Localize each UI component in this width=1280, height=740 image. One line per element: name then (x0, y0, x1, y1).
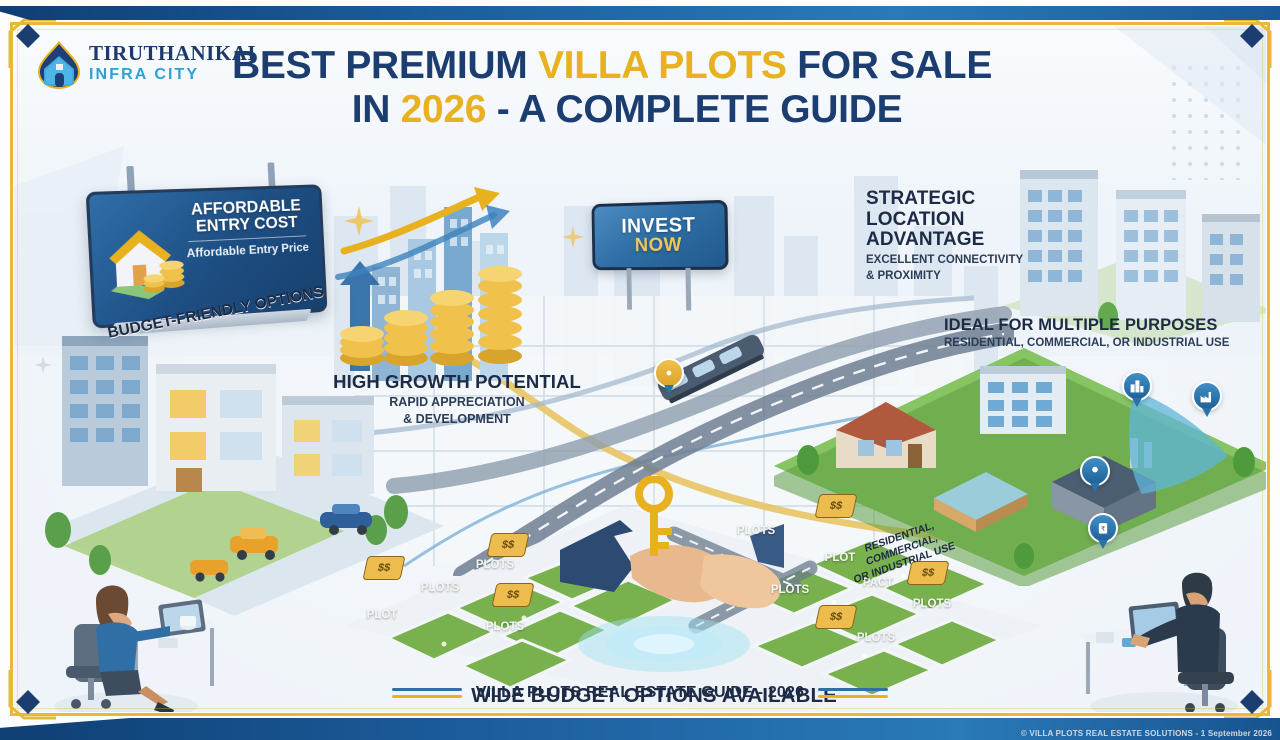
plot-label: PLOTS (465, 557, 525, 573)
footer-rule-right (818, 688, 888, 698)
plot-label: PLOT (352, 607, 412, 623)
feature-sub-line-1: EXCELLENT CONNECTIVITY (866, 254, 1046, 268)
title-part-6: - A COMPLETE GUIDE (486, 88, 902, 131)
price-tag-label: $$ (486, 533, 529, 557)
svg-text:₹: ₹ (1101, 526, 1105, 533)
price-tag-icon: $$ (489, 533, 527, 557)
plot-label: PLOTS (902, 596, 962, 612)
price-tag-label: $$ (814, 494, 857, 518)
invest-now-sign: INVEST NOW (591, 200, 728, 270)
feature-sub: RESIDENTIAL, COMMERCIAL, OR INDUSTRIAL U… (944, 337, 1264, 349)
feature-heading: HIGH GROWTH POTENTIAL (327, 371, 587, 393)
title-part-1: BEST PREMIUM (232, 44, 538, 87)
brand-text: TIRUTHANIKAI INFRA CITY (89, 43, 256, 86)
sparkle-icon (562, 226, 584, 248)
top-accent-bar (0, 6, 1280, 20)
copyright-text: © VILLA PLOTS REAL ESTATE SOLUTIONS - 1 … (1021, 729, 1272, 738)
title-highlight-villa-plots: VILLA PLOTS (538, 44, 787, 87)
billboard-leg (267, 162, 275, 188)
brand-name: TIRUTHANIKAI (89, 43, 256, 64)
sparkle-icon (344, 206, 374, 236)
price-tag-label: $$ (362, 556, 405, 580)
map-pin-icon (654, 358, 684, 388)
feature-heading: IDEAL FOR MULTIPLE PURPOSES (944, 316, 1264, 335)
title-line-1: BEST PREMIUM VILLA PLOTS FOR SALE (232, 44, 1112, 88)
document-rupee-icon: ₹ (1088, 513, 1118, 543)
footer-rule-left (392, 688, 462, 698)
price-tag-label: $$ (814, 605, 857, 629)
feature-high-growth: HIGH GROWTH POTENTIAL RAPID APPRECIATION… (327, 371, 587, 427)
map-pin-icon (1080, 456, 1110, 486)
corner-ornament-bottom-right (1220, 666, 1274, 720)
feature-strategic-location: STRATEGIC LOCATION ADVANTAGE EXCELLENT C… (866, 189, 1046, 284)
billboard-subline: Affordable Entry Price (183, 241, 313, 261)
footer-band: VILLA PLOTS REAL ESTATE GUIDE - 2026 (0, 676, 1280, 710)
price-tag-label: $$ (491, 583, 534, 607)
plot-label: PLOTS (760, 582, 820, 598)
brand-logo[interactable]: TIRUTHANIKAI INFRA CITY (36, 40, 256, 90)
feature-sub-line-1: RAPID APPRECIATION (327, 395, 587, 410)
key-icon (626, 476, 682, 562)
sign-line-1: INVEST (621, 215, 695, 237)
page-title: BEST PREMIUM VILLA PLOTS FOR SALE IN 202… (232, 44, 1112, 133)
billboard-leg (126, 166, 135, 193)
feature-sub-line-2: & DEVELOPMENT (327, 412, 587, 427)
feature-sub-line-2: & PROXIMITY (866, 270, 1046, 284)
footer-title: VILLA PLOTS REAL ESTATE GUIDE - 2026 (476, 684, 804, 702)
feature-multiple-purposes: IDEAL FOR MULTIPLE PURPOSES RESIDENTIAL,… (944, 316, 1264, 349)
plot-label: PLOTS (410, 580, 470, 596)
feature-heading-line-1: STRATEGIC (866, 189, 1046, 210)
corner-ornament-top-left (6, 18, 60, 72)
brand-tagline: INFRA CITY (89, 64, 256, 86)
plot-label: PLOTS (475, 619, 535, 635)
price-tag-icon: $$ (365, 556, 403, 580)
feature-sub: PLOTS ACROSS VARIOUS PRICE RANGES (454, 710, 854, 712)
price-tag-icon: $$ (817, 605, 855, 629)
sign-post (685, 268, 691, 311)
billboard-headline: AFFORDABLE ENTRY COST (180, 197, 311, 236)
price-tag-icon: $$ (494, 583, 532, 607)
price-tag-icon: $$ (817, 494, 855, 518)
infographic-poster: ₹ (0, 0, 1280, 740)
coin-stacks-icon (336, 258, 552, 370)
factory-icon (1192, 381, 1222, 411)
billboard-text: AFFORDABLE ENTRY COST Affordable Entry P… (180, 197, 312, 261)
title-part-3: FOR SALE (787, 44, 992, 87)
sparkle-icon (34, 356, 52, 374)
plot-label: PLOTS (726, 523, 786, 539)
feature-heading-line-2: LOCATION (866, 210, 1046, 231)
title-highlight-year: 2026 (401, 88, 487, 131)
sign-line-2: NOW (635, 235, 683, 257)
plot-label: PLOTS (846, 630, 906, 646)
sign-post (626, 268, 632, 310)
feature-heading-line-3: ADVANTAGE (866, 230, 1046, 251)
title-part-4: IN (352, 88, 401, 131)
city-buildings-icon (1122, 371, 1152, 401)
corner-ornament-top-right (1220, 18, 1274, 72)
sign-face: INVEST NOW (591, 200, 728, 270)
title-line-2: IN 2026 - A COMPLETE GUIDE (232, 88, 1112, 132)
corner-ornament-bottom-left (6, 666, 60, 720)
